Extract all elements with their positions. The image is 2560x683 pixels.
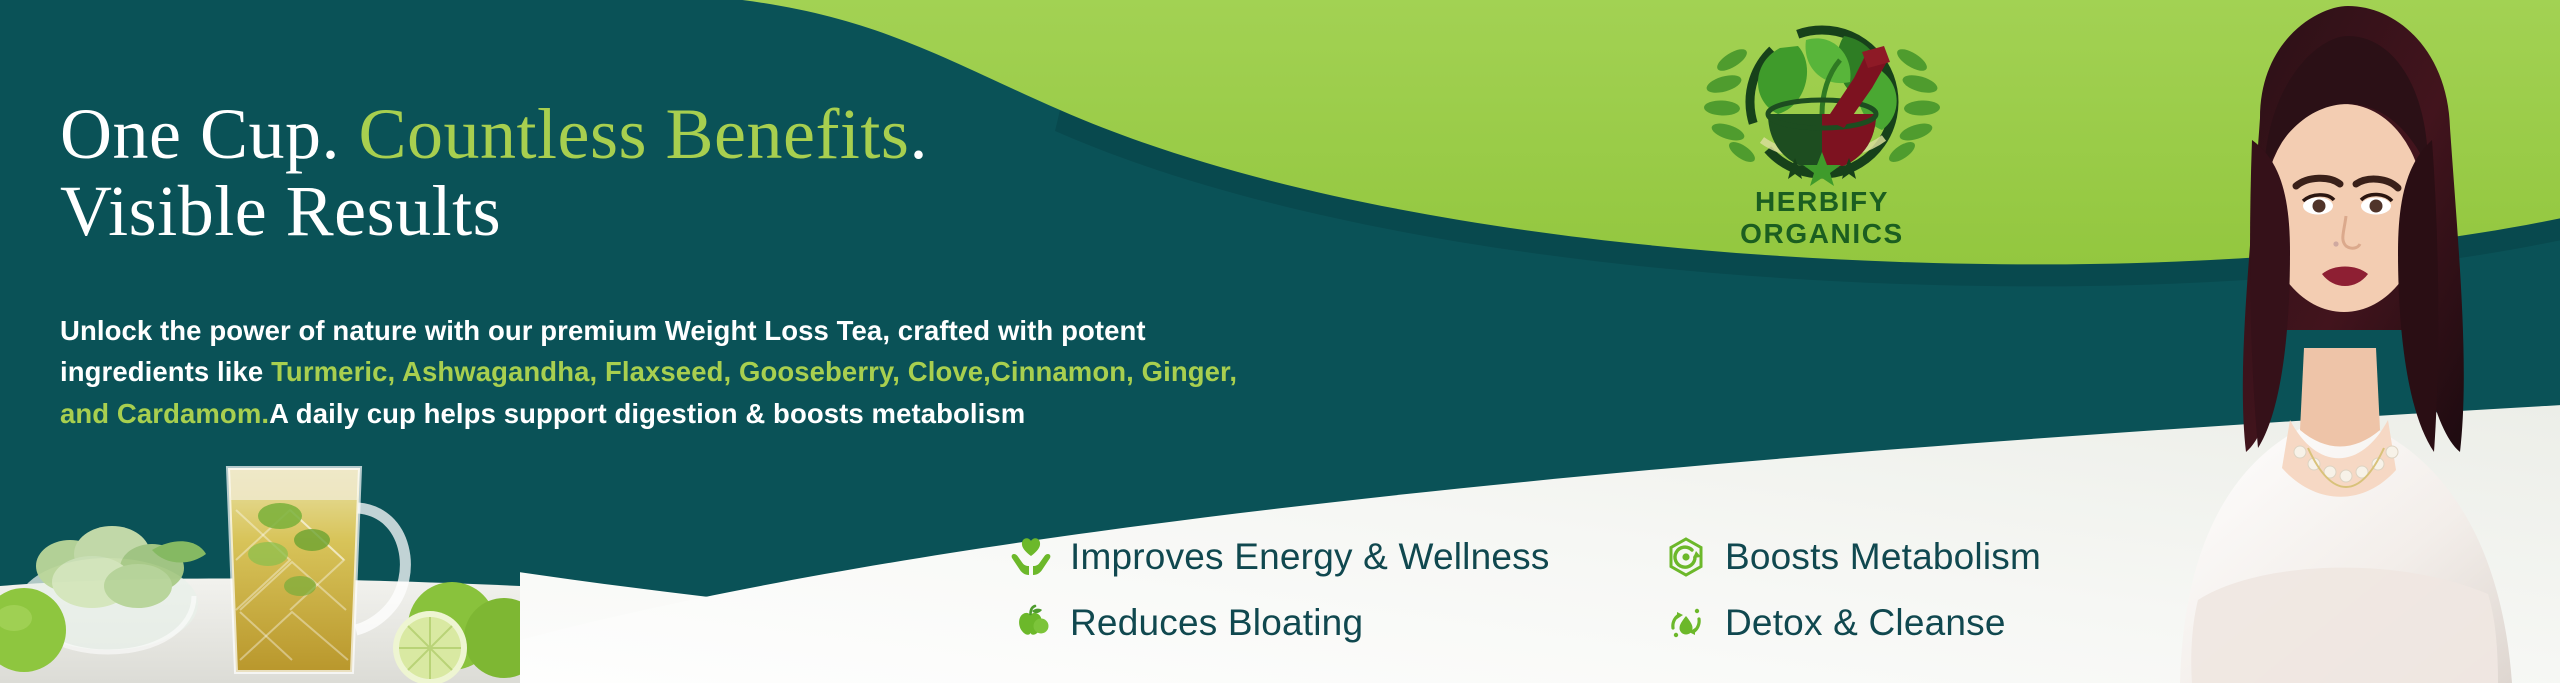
description-segment-2: A daily cup helps support digestion & bo… (269, 398, 1025, 429)
description-paragraph: Unlock the power of nature with our prem… (60, 310, 1240, 435)
benefit-label: Reduces Bloating (1070, 602, 1363, 644)
headline-line1-period: . (909, 94, 928, 174)
benefits-list: Improves Energy & Wellness Boosts Metabo… (1010, 528, 2240, 652)
mortar-pestle-leaf-wreath-logo-icon (1702, 2, 1942, 192)
benefit-item-detox-cleanse[interactable]: Detox & Cleanse (1665, 594, 2240, 652)
brand-logo[interactable]: HERBIFY ORGANICS (1672, 2, 1972, 242)
hands-holding-heart-icon (1010, 536, 1052, 578)
headline-line1-accent: Countless Benefits (358, 94, 909, 174)
benefit-label: Boosts Metabolism (1725, 536, 2041, 578)
headline-line1-plain: One Cup. (60, 94, 358, 174)
benefit-item-boosts-metabolism[interactable]: Boosts Metabolism (1665, 528, 2240, 586)
headline: One Cup. Countless Benefits. Visible Res… (60, 96, 1160, 249)
hexagon-metabolism-icon (1665, 536, 1707, 578)
fruit-apples-icon (1010, 602, 1052, 644)
benefit-item-reduces-bloating[interactable]: Reduces Bloating (1010, 594, 1665, 652)
brand-name: HERBIFY ORGANICS (1672, 186, 1972, 250)
promo-banner: One Cup. Countless Benefits. Visible Res… (0, 0, 2560, 683)
headline-line2: Visible Results (60, 173, 1160, 249)
benefit-label: Improves Energy & Wellness (1070, 536, 1550, 578)
droplet-detox-cycle-icon (1665, 602, 1707, 644)
benefit-item-improves-energy[interactable]: Improves Energy & Wellness (1010, 528, 1665, 586)
benefit-label: Detox & Cleanse (1725, 602, 2006, 644)
